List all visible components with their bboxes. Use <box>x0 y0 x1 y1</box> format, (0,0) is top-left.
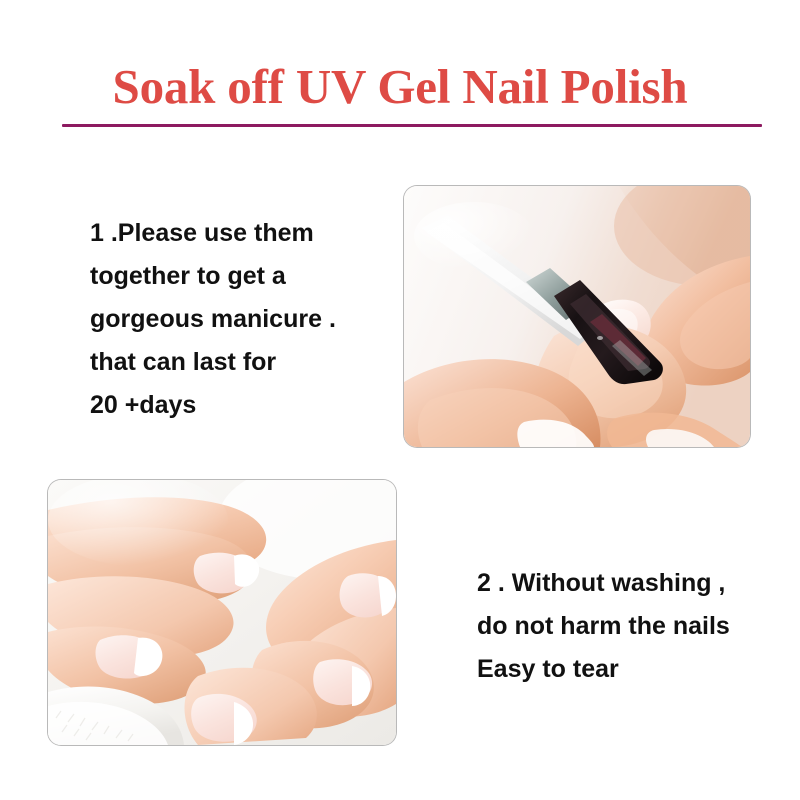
instruction-line: 1 .Please use them <box>90 212 336 255</box>
instruction-line: gorgeous manicure . <box>90 298 336 341</box>
instruction-line: 2 . Without washing , <box>477 562 730 605</box>
instruction-line: together to get a <box>90 255 336 298</box>
photo-french-manicure <box>48 480 396 745</box>
photo-french-manicure-art <box>48 480 396 745</box>
title-divider <box>62 124 762 127</box>
instruction-line: that can last for <box>90 341 336 384</box>
instruction-line: 20 +days <box>90 384 336 427</box>
page-title: Soak off UV Gel Nail Polish <box>0 58 800 116</box>
instruction-line: do not harm the nails <box>477 605 730 648</box>
instruction-step-one: 1 .Please use them together to get a gor… <box>90 212 336 427</box>
photo-gel-application-art <box>404 186 750 447</box>
poster-canvas: Soak off UV Gel Nail Polish 1 .Please us… <box>0 0 800 800</box>
photo-gel-application <box>404 186 750 447</box>
instruction-step-two: 2 . Without washing , do not harm the na… <box>477 562 730 691</box>
instruction-line: Easy to tear <box>477 648 730 691</box>
